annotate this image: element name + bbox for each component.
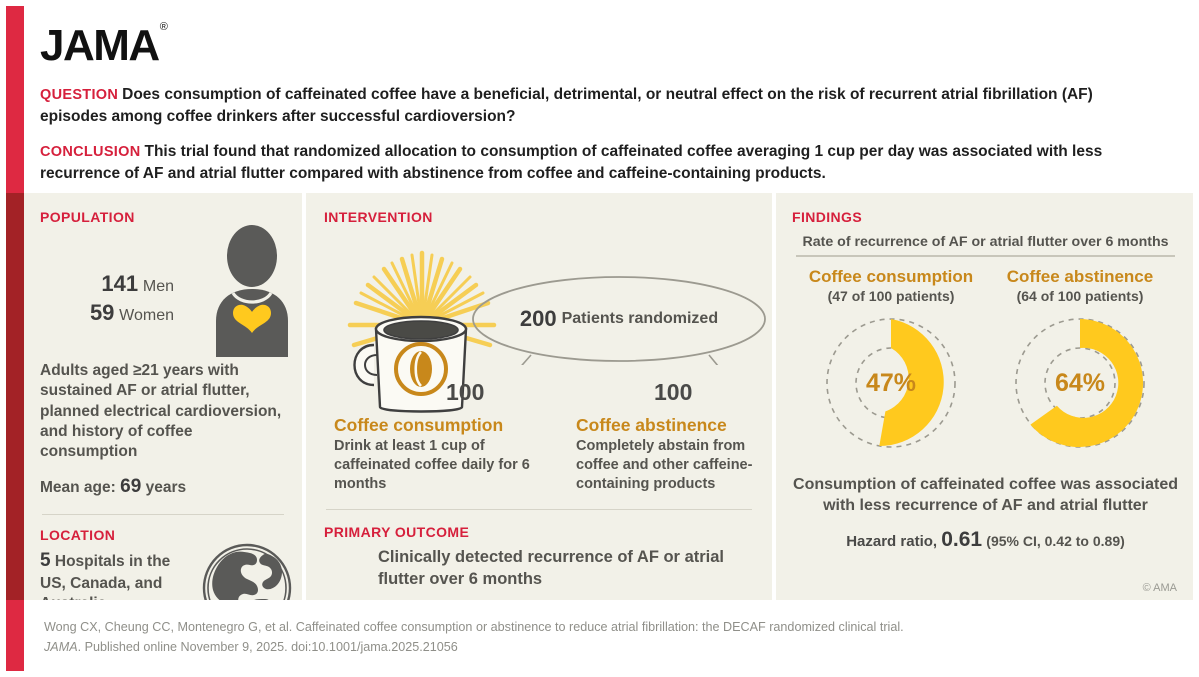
intervention-divider bbox=[326, 509, 752, 510]
women-row: 59 Women bbox=[52, 298, 174, 327]
men-count: 141 bbox=[101, 271, 138, 296]
donut-1-svg: 47% bbox=[816, 308, 966, 458]
arm-1-title: Coffee consumption bbox=[334, 415, 503, 436]
person-with-heart-icon bbox=[200, 223, 304, 363]
footer: Wong CX, Cheung CC, Montenegro G, et al.… bbox=[24, 600, 1193, 671]
hazard-ratio-line: Hazard ratio, 0.61 (95% CI, 0.42 to 0.89… bbox=[792, 528, 1179, 552]
mean-age-suffix: years bbox=[146, 479, 187, 496]
findings-rule bbox=[796, 255, 1175, 257]
hazard-ratio-value: 0.61 bbox=[941, 528, 982, 551]
randomized-count: 200 bbox=[520, 306, 557, 332]
citation-journal: JAMA bbox=[44, 640, 78, 654]
jama-wordmark: JAMA bbox=[40, 21, 159, 70]
donut-1-value: 47% bbox=[866, 369, 916, 397]
intervention-label: INTERVENTION bbox=[324, 209, 754, 225]
copyright-notice: © AMA bbox=[1143, 582, 1177, 594]
arm-1-count: 100 bbox=[446, 379, 484, 406]
question-label: QUESTION bbox=[40, 87, 118, 103]
donut-chart-coffee-abstinence: Coffee abstinence (64 of 100 patients) 6… bbox=[987, 267, 1173, 458]
donut-2-svg: 64% bbox=[1005, 308, 1155, 458]
population-summary: 141 Men 59 Women bbox=[40, 231, 286, 359]
location-count: 5 bbox=[40, 550, 51, 571]
findings-column: FINDINGS Rate of recurrence of AF or atr… bbox=[776, 193, 1193, 600]
intervention-graphic: 200 Patients randomized 100 100 Coffee c… bbox=[324, 231, 754, 481]
conclusion-block: CONCLUSIONThis trial found that randomiz… bbox=[40, 141, 1155, 185]
men-label: Men bbox=[143, 278, 174, 295]
citation-line-1: Wong CX, Cheung CC, Montenegro G, et al.… bbox=[44, 618, 1173, 638]
arm-2-count: 100 bbox=[654, 379, 692, 406]
findings-subtitle: Rate of recurrence of AF or atrial flutt… bbox=[792, 231, 1179, 255]
main-panels: POPULATION 141 Men 59 Women Adults aged … bbox=[24, 193, 1193, 600]
citation-line-2: JAMA. Published online November 9, 2025.… bbox=[44, 638, 1173, 658]
randomized-label-wrap: 200 Patients randomized bbox=[469, 273, 769, 365]
population-description: Adults aged ≥21 years with sustained AF … bbox=[40, 361, 286, 462]
hazard-ratio-label: Hazard ratio, bbox=[846, 533, 937, 550]
hazard-ratio-ci: (95% CI, 0.42 to 0.89) bbox=[986, 533, 1125, 549]
question-text: Does consumption of caffeinated coffee h… bbox=[40, 86, 1093, 125]
population-counts: 141 Men 59 Women bbox=[52, 269, 174, 328]
population-column: POPULATION 141 Men 59 Women Adults aged … bbox=[24, 193, 302, 600]
donut-2-value: 64% bbox=[1055, 369, 1105, 397]
question-block: QUESTIONDoes consumption of caffeinated … bbox=[40, 84, 1155, 128]
arm-2-description: Completely abstain from coffee and other… bbox=[576, 437, 781, 494]
mean-age: Mean age: 69 years bbox=[40, 476, 286, 498]
donut-2-title: Coffee abstinence bbox=[987, 267, 1173, 287]
header: JAMA® QUESTIONDoes consumption of caffei… bbox=[24, 6, 1193, 193]
randomized-label: Patients randomized bbox=[562, 310, 718, 328]
citation-line-2-rest: . Published online November 9, 2025. doi… bbox=[78, 640, 458, 654]
infographic-page: JAMA® QUESTIONDoes consumption of caffei… bbox=[0, 0, 1199, 677]
conclusion-label: CONCLUSION bbox=[40, 144, 140, 160]
women-count: 59 bbox=[90, 300, 114, 325]
donut-charts: Coffee consumption (47 of 100 patients) … bbox=[792, 267, 1179, 458]
arm-1-description: Drink at least 1 cup of caffeinated coff… bbox=[334, 437, 539, 494]
donut-2-subtitle: (64 of 100 patients) bbox=[987, 288, 1173, 304]
primary-outcome-label: PRIMARY OUTCOME bbox=[324, 524, 754, 540]
mean-age-prefix: Mean age: bbox=[40, 479, 116, 496]
citation: Wong CX, Cheung CC, Montenegro G, et al.… bbox=[44, 618, 1173, 657]
women-label: Women bbox=[119, 307, 174, 324]
arm-2-title: Coffee abstinence bbox=[576, 415, 727, 436]
primary-outcome-text: Clinically detected recurrence of AF or … bbox=[378, 546, 754, 590]
findings-conclusion: Consumption of caffeinated coffee was as… bbox=[792, 474, 1179, 517]
conclusion-text: This trial found that randomized allocat… bbox=[40, 143, 1102, 182]
donut-chart-coffee-consumption: Coffee consumption (47 of 100 patients) … bbox=[798, 267, 984, 458]
mean-age-value: 69 bbox=[120, 476, 141, 497]
intervention-column: INTERVENTION bbox=[306, 193, 772, 600]
left-accent-bar-dark-segment bbox=[6, 193, 24, 600]
population-divider bbox=[42, 514, 284, 515]
men-row: 141 Men bbox=[52, 269, 174, 298]
registered-mark: ® bbox=[160, 21, 168, 33]
donut-1-subtitle: (47 of 100 patients) bbox=[798, 288, 984, 304]
jama-logo: JAMA® bbox=[40, 24, 167, 68]
findings-label: FINDINGS bbox=[792, 209, 1179, 225]
donut-1-title: Coffee consumption bbox=[798, 267, 984, 287]
